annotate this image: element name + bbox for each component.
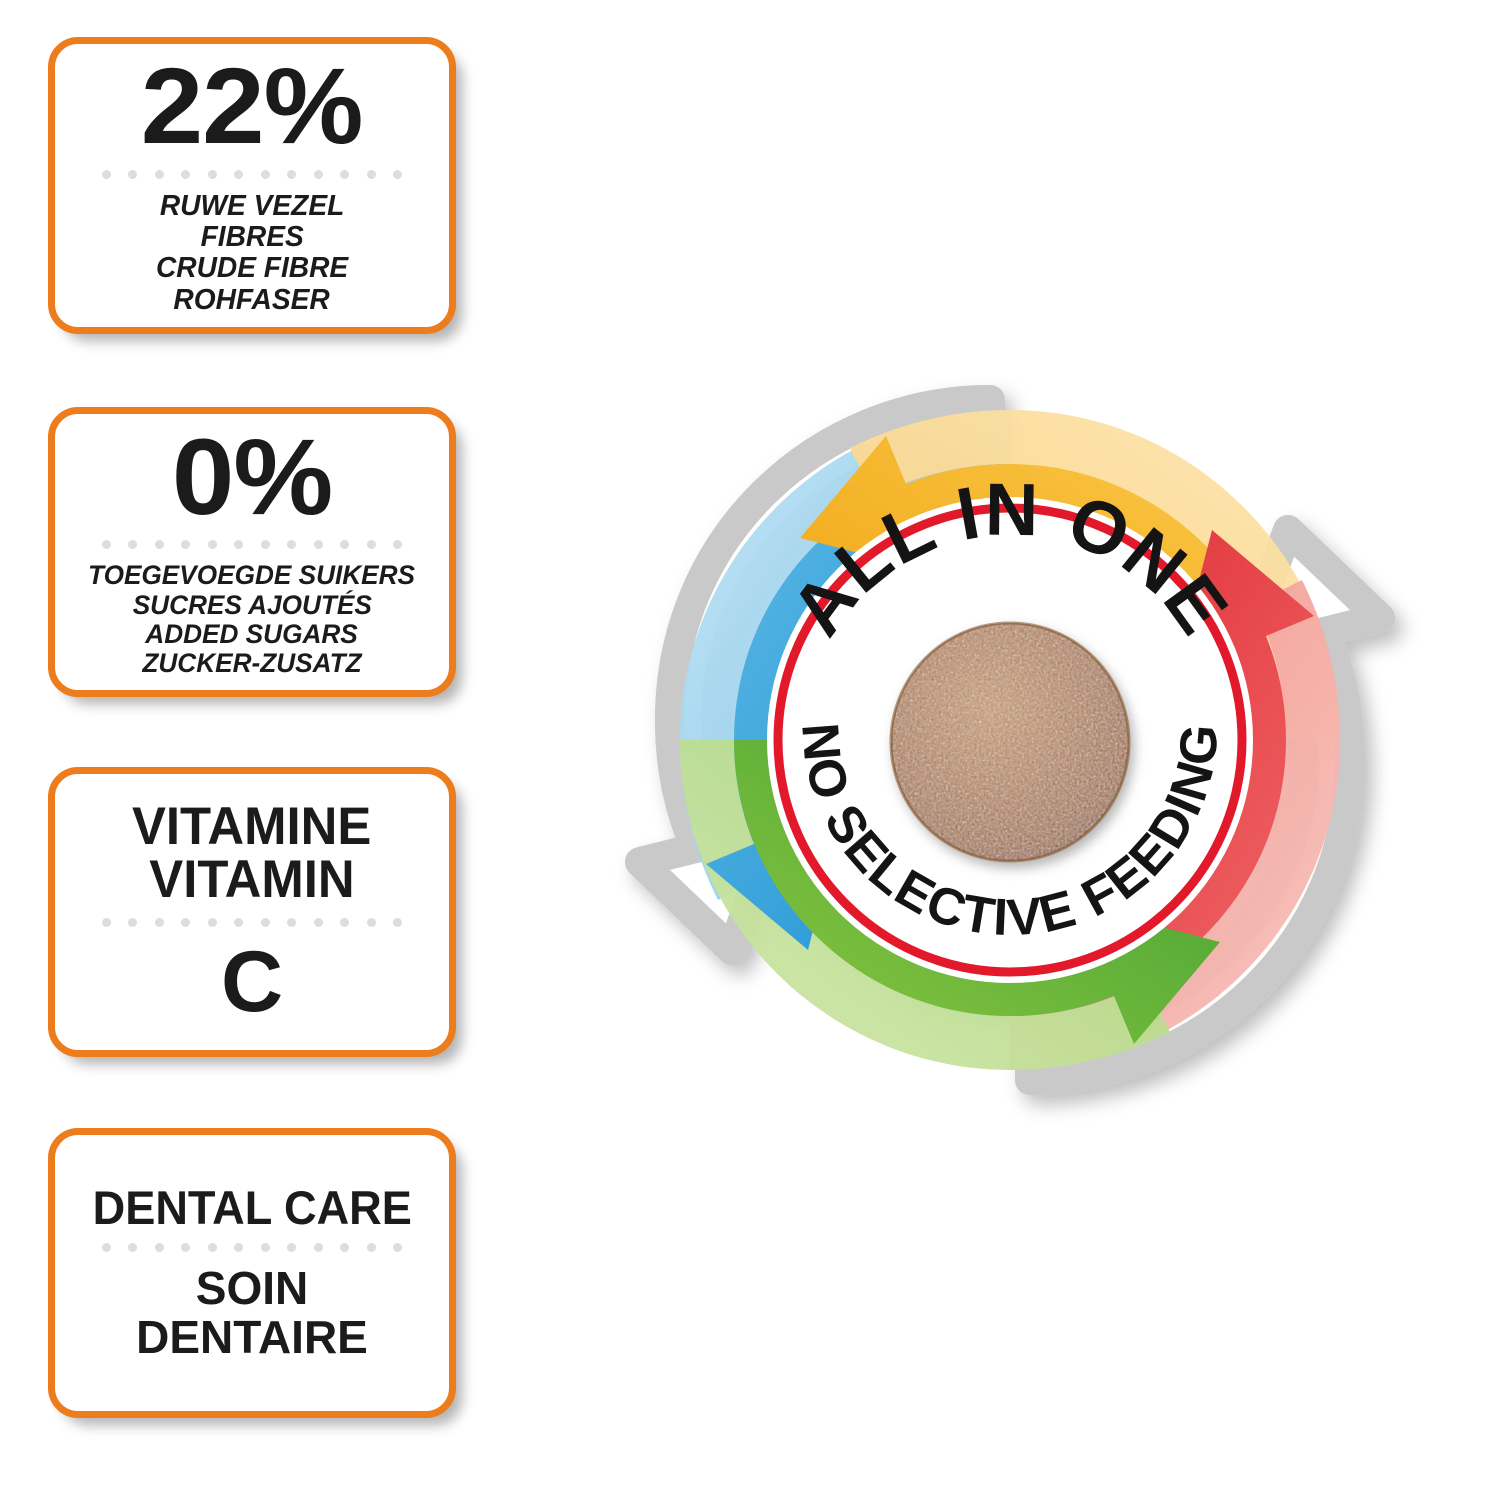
badge-crude-fibre[interactable]: 22% RUWE VEZEL FIBRES CRUDE FIBRE ROHFAS… xyxy=(48,37,456,334)
logo-svg: ALL IN ONE NO SELECTIVE FEEDING xyxy=(520,250,1500,1250)
badge-label-en: CRUDE FIBRE xyxy=(156,253,348,284)
badge-vitamin-c[interactable]: VITAMINE VITAMIN C xyxy=(48,767,456,1057)
badge-label-fr: FIBRES xyxy=(200,222,303,253)
feature-badge-column: 22% RUWE VEZEL FIBRES CRUDE FIBRE ROHFAS… xyxy=(0,0,520,1500)
all-in-one-logo[interactable]: ALL IN ONE NO SELECTIVE FEEDING xyxy=(520,250,1500,1250)
dotted-divider xyxy=(102,540,402,549)
badge-added-sugars[interactable]: 0% TOEGEVOEGDE SUIKERS SUCRES AJOUTÉS AD… xyxy=(48,407,456,697)
badge-value: 22% xyxy=(141,55,363,158)
badge-value: 0% xyxy=(172,426,332,529)
badge-label-fr-1: SOIN xyxy=(196,1264,308,1313)
badge-label-fr: SUCRES AJOUTÉS xyxy=(132,591,371,620)
badge-label-fr-2: DENTAIRE xyxy=(136,1313,368,1362)
badge-heading-en: VITAMIN xyxy=(149,853,354,906)
poster-canvas: 22% RUWE VEZEL FIBRES CRUDE FIBRE ROHFAS… xyxy=(0,0,1500,1500)
badge-value: C xyxy=(221,939,283,1025)
badge-label-nl: TOEGEVOEGDE SUIKERS xyxy=(89,561,416,590)
dotted-divider xyxy=(102,918,402,927)
badge-label-de: ZUCKER-ZUSATZ xyxy=(142,649,361,678)
badge-label-nl: RUWE VEZEL xyxy=(160,191,344,222)
kibble-pellet xyxy=(891,623,1129,861)
badge-heading-en: DENTAL CARE xyxy=(92,1184,411,1231)
dotted-divider xyxy=(102,170,402,179)
badge-heading-fr: VITAMINE xyxy=(132,800,371,853)
badge-label-de: ROHFASER xyxy=(174,285,330,316)
badge-dental-care[interactable]: DENTAL CARE SOIN DENTAIRE xyxy=(48,1128,456,1418)
dotted-divider xyxy=(102,1243,402,1252)
badge-label-en: ADDED SUGARS xyxy=(146,620,358,649)
